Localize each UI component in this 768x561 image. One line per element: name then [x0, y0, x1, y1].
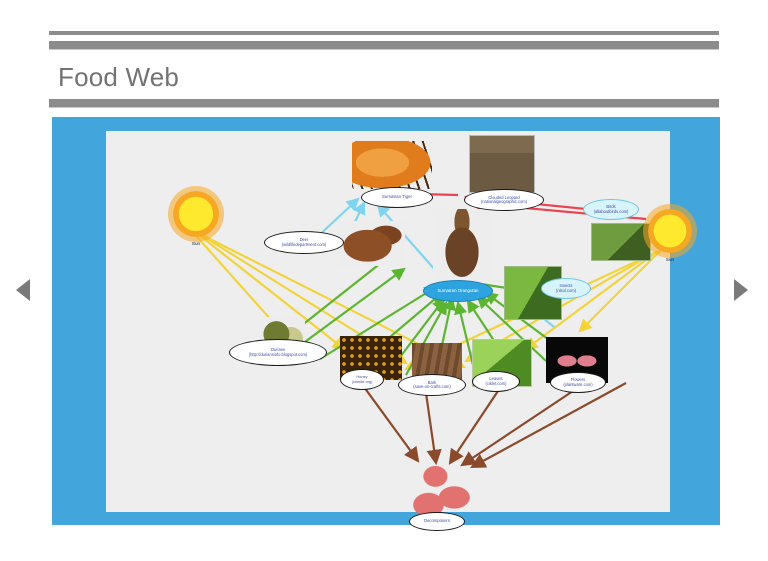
- slide-header: Food Web: [0, 0, 768, 112]
- page-title: Food Web: [58, 62, 179, 93]
- header-top-rule: [49, 31, 719, 35]
- node-source: (plantware.com): [563, 383, 592, 387]
- node-source: (ciklet.com): [486, 382, 507, 386]
- node-source: (wildlifedepartment.com): [282, 243, 327, 247]
- node-flowers[interactable]: Flowers (plantware.com): [550, 372, 606, 393]
- node-clouded-leopard[interactable]: Clouded Leopard (nationalgeographic.com): [464, 189, 544, 211]
- orangutan-photo: [433, 209, 491, 281]
- node-source: (comite.org): [352, 380, 373, 384]
- node-leaves[interactable]: Leaves (ciklet.com): [472, 371, 520, 392]
- node-label: Decomposers: [424, 519, 450, 523]
- node-sumatran-tiger[interactable]: Sumatran Tiger: [361, 187, 433, 208]
- node-source: (allaboutbirds.com): [594, 210, 629, 214]
- sun-left-icon: [173, 191, 219, 237]
- node-bark[interactable]: Bark (save-on-crafts.com): [398, 374, 466, 396]
- node-label: Sumatran Tiger: [382, 195, 412, 200]
- node-sumatran-orangutan[interactable]: Sumatran Orangutan: [423, 280, 493, 302]
- triangle-left-icon[interactable]: [16, 279, 30, 301]
- node-durians[interactable]: Durians (http://duriansinfo.blogspot.com…: [229, 339, 327, 366]
- clouded-leopard-photo: [469, 135, 535, 193]
- header-hairline: [49, 49, 719, 50]
- sun-left-label: Sun: [176, 241, 216, 246]
- slide-canvas: Sun Sun Sumatran Tiger Clouded Leopard (…: [106, 131, 670, 512]
- slide-frame: Sun Sun Sumatran Tiger Clouded Leopard (…: [52, 117, 720, 525]
- node-source: (nlsol.com): [556, 289, 576, 293]
- decomposer-arrow-group: [364, 383, 626, 467]
- header-bottom-hairline: [49, 107, 719, 108]
- node-source: (save-on-crafts.com): [413, 385, 451, 389]
- node-label: Sumatran Orangutan: [437, 289, 478, 294]
- triangle-right-icon[interactable]: [734, 279, 748, 301]
- node-deer[interactable]: Deer (wildlifedepartment.com): [264, 231, 344, 254]
- bird-photo: [591, 223, 651, 261]
- sun-right-label: Sun: [650, 257, 690, 262]
- node-birds[interactable]: Birds (allaboutbirds.com): [583, 199, 639, 220]
- node-source: (nationalgeographic.com): [481, 200, 527, 204]
- node-honey[interactable]: Honey (comite.org): [340, 369, 384, 390]
- sun-right-icon: [648, 209, 692, 253]
- sumatran-tiger-photo: [352, 141, 432, 189]
- node-decomposers[interactable]: Decomposers: [409, 512, 465, 531]
- node-source: (http://duriansinfo.blogspot.com): [249, 353, 307, 357]
- node-insects[interactable]: Insects (nlsol.com): [541, 278, 591, 299]
- deer-photo: [337, 221, 405, 266]
